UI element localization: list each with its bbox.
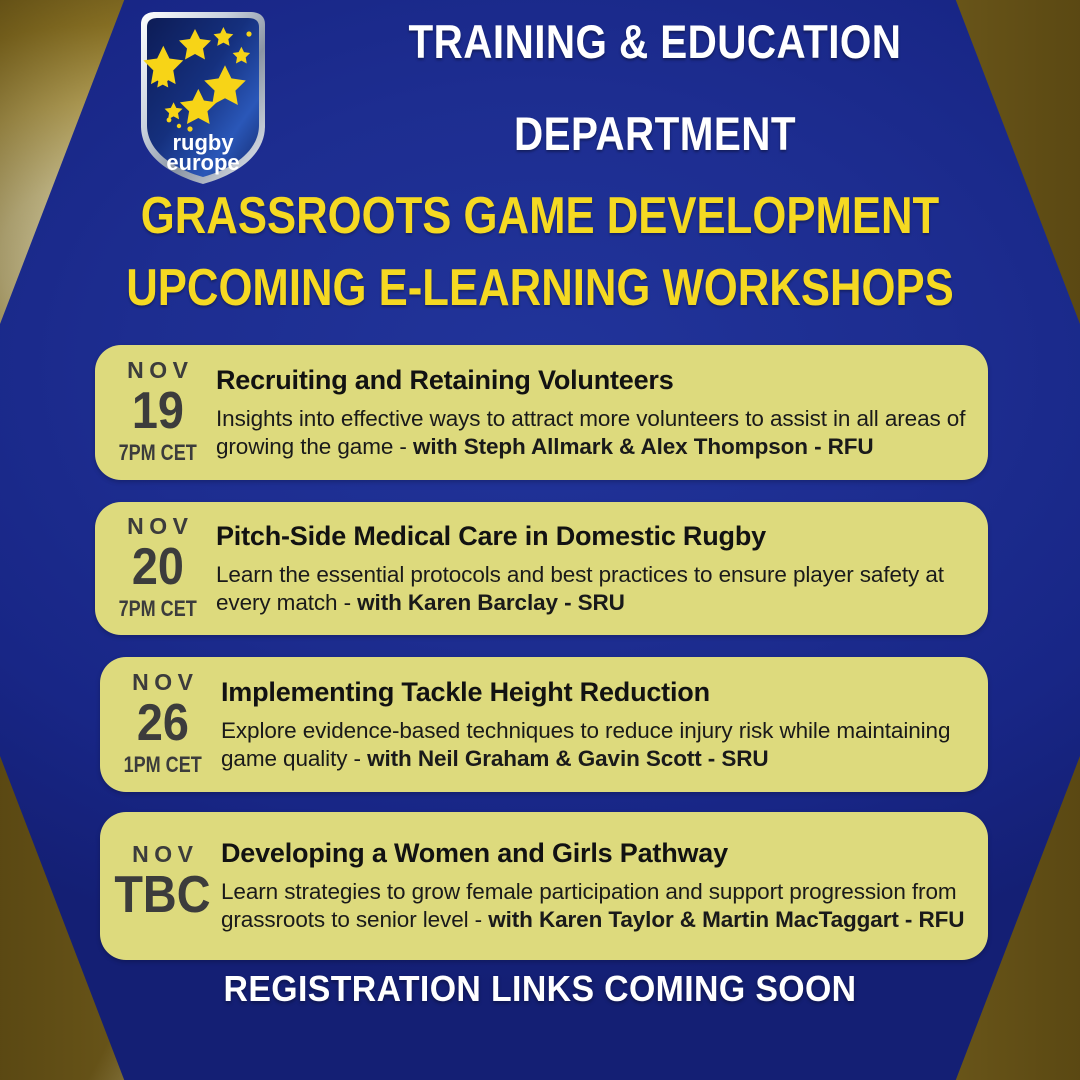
date-month: NOV	[127, 843, 199, 866]
workshop-date-block: NOV 26 1PM CET	[110, 665, 215, 784]
registration-notice: REGISTRATION LINKS COMING SOON	[32, 968, 1047, 1010]
workshop-title: Developing a Women and Girls Pathway	[221, 839, 972, 869]
subtitle-line-2-wrap: UPCOMING E-LEARNING WORKSHOPS	[0, 262, 1080, 314]
date-time: 1PM CET	[123, 754, 201, 776]
workshop-card[interactable]: NOV TBC Developing a Women and Girls Pat…	[100, 812, 988, 960]
header-titles: TRAINING & EDUCATION DEPARTMENT	[270, 18, 1040, 157]
date-time: 7PM CET	[118, 442, 196, 464]
workshop-card[interactable]: NOV 26 1PM CET Implementing Tackle Heigh…	[100, 657, 988, 792]
date-day: 26	[136, 696, 188, 751]
workshop-date-block: NOV 19 7PM CET	[105, 353, 210, 472]
workshop-date-block: NOV 20 7PM CET	[105, 510, 210, 627]
logo-wordmark-line2: europe	[166, 150, 239, 175]
workshop-title: Recruiting and Retaining Volunteers	[216, 366, 972, 396]
workshop-text-block: Implementing Tackle Height Reduction Exp…	[215, 665, 972, 784]
workshop-description: Learn the essential protocols and best p…	[216, 561, 972, 618]
date-month: NOV	[122, 515, 194, 538]
subtitle-line-1: GRASSROOTS GAME DEVELOPMENT	[86, 190, 993, 242]
workshop-title: Pitch-Side Medical Care in Domestic Rugb…	[216, 522, 972, 552]
workshop-description: Learn strategies to grow female particip…	[221, 878, 972, 935]
title-line-1: TRAINING & EDUCATION	[324, 18, 986, 65]
workshop-card[interactable]: NOV 19 7PM CET Recruiting and Retaining …	[95, 345, 988, 480]
workshop-presenters: with Steph Allmark & Alex Thompson - RFU	[413, 434, 874, 459]
date-day: 20	[131, 540, 183, 595]
workshop-card[interactable]: NOV 20 7PM CET Pitch-Side Medical Care i…	[95, 502, 988, 635]
workshop-text-block: Developing a Women and Girls Pathway Lea…	[215, 820, 972, 952]
poster-canvas: rugby europe TRAINING & EDUCATION DEPART…	[0, 0, 1080, 1080]
workshop-title: Implementing Tackle Height Reduction	[221, 678, 972, 708]
workshop-text-block: Pitch-Side Medical Care in Domestic Rugb…	[210, 510, 972, 627]
date-day: 19	[131, 384, 183, 439]
title-line-2: DEPARTMENT	[324, 110, 986, 157]
date-time: 7PM CET	[118, 598, 196, 620]
workshop-description: Explore evidence-based techniques to red…	[221, 717, 972, 774]
workshop-presenters: with Karen Barclay - SRU	[357, 590, 625, 615]
poster-content: rugby europe TRAINING & EDUCATION DEPART…	[0, 0, 1080, 1080]
subtitle-line-2: UPCOMING E-LEARNING WORKSHOPS	[86, 262, 993, 314]
workshop-presenters: with Neil Graham & Gavin Scott - SRU	[367, 746, 768, 771]
workshop-text-block: Recruiting and Retaining Volunteers Insi…	[210, 353, 972, 472]
workshop-date-block: NOV TBC	[110, 820, 215, 952]
workshop-presenters: with Karen Taylor & Martin MacTaggart - …	[488, 907, 964, 932]
date-month: NOV	[127, 671, 199, 694]
rugby-europe-shield-logo: rugby europe	[133, 8, 273, 188]
date-day: TBC	[114, 868, 210, 923]
date-month: NOV	[122, 359, 194, 382]
workshop-description: Insights into effective ways to attract …	[216, 405, 972, 462]
subtitle-line-1-wrap: GRASSROOTS GAME DEVELOPMENT	[0, 190, 1080, 242]
